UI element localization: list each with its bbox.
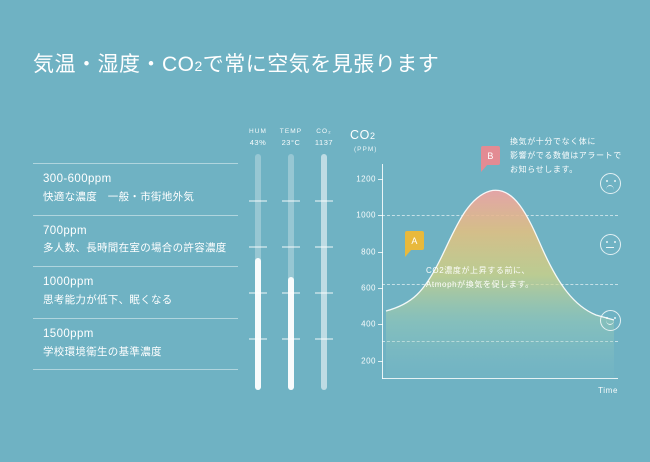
chart-axis-title-subscript: 2 <box>370 131 376 141</box>
gauge-name: CO₂ <box>309 128 339 135</box>
happy-face-icon <box>600 310 621 331</box>
sensor-gauges: HUM 43% TEMP 23°C CO₂ 1137 <box>243 128 338 393</box>
gauge-fill <box>288 277 294 390</box>
ppm-reference-list: 300-600ppm 快適な濃度 一般・市街地外気 700ppm 多人数、長時間… <box>33 163 238 370</box>
neutral-face-icon <box>600 234 621 255</box>
ppm-value: 700ppm <box>43 223 238 241</box>
ppm-description: 快適な濃度 一般・市街地外気 <box>43 189 238 206</box>
chart-axis-title-text: CO <box>350 128 370 142</box>
list-item: 700ppm 多人数、長時間在室の場合の許容濃度 <box>33 215 238 267</box>
gauge-name: TEMP <box>276 128 306 135</box>
sad-face-icon <box>600 173 621 194</box>
chart-axis-title: CO2 <box>350 128 376 142</box>
callout-a: CO2濃度が上昇する前に、 Atmophが換気を促します。 <box>426 264 534 292</box>
gauge-tube <box>321 154 327 390</box>
marker-b-tail <box>481 164 488 172</box>
marker-b[interactable]: B <box>481 146 500 168</box>
marker-a[interactable]: A <box>405 231 424 253</box>
gauge-fill <box>255 258 261 390</box>
y-tick-label: 800 <box>361 247 376 256</box>
ppm-value: 1500ppm <box>43 326 238 344</box>
page-title-tail: で常に空気を見張ります <box>203 53 440 76</box>
chart-axis-unit: (PPM) <box>354 146 377 153</box>
callout-b-line: 影響がでる数値はアラートで <box>510 149 622 163</box>
marker-b-label: B <box>481 146 500 165</box>
marker-a-label: A <box>405 231 424 250</box>
ppm-description: 多人数、長時間在室の場合の許容濃度 <box>43 240 238 257</box>
marker-a-tail <box>405 249 412 257</box>
callout-a-line: CO2濃度が上昇する前に、 <box>426 264 534 278</box>
page-title-subscript: 2 <box>195 58 203 74</box>
list-item: 300-600ppm 快適な濃度 一般・市街地外気 <box>33 163 238 215</box>
gauge-tube <box>288 154 294 390</box>
page-title-main: 気温・湿度・CO <box>33 53 195 76</box>
gauge-value: 1137 <box>309 138 339 147</box>
gauge-name: HUM <box>243 128 273 135</box>
y-tick-label: 1200 <box>356 174 376 183</box>
gauge-value: 43% <box>243 138 273 147</box>
ppm-value: 1000ppm <box>43 274 238 292</box>
callout-a-line: Atmophが換気を促します。 <box>426 278 534 292</box>
gauge-value: 23°C <box>276 138 306 147</box>
y-tick-label: 200 <box>361 356 376 365</box>
y-tick-label: 600 <box>361 283 376 292</box>
y-tick-label: 400 <box>361 320 376 329</box>
list-item: 1000ppm 思考能力が低下、眠くなる <box>33 266 238 318</box>
gauge-temp: TEMP 23°C <box>276 128 306 147</box>
y-tick-label: 1000 <box>356 210 376 219</box>
page-title: 気温・湿度・CO2で常に空気を見張ります <box>33 48 439 78</box>
gauge-co2: CO₂ 1137 <box>309 128 339 147</box>
ppm-description: 思考能力が低下、眠くなる <box>43 292 238 309</box>
x-axis-label: Time <box>598 386 618 395</box>
ppm-value: 300-600ppm <box>43 171 238 189</box>
gauge-hum: HUM 43% <box>243 128 273 147</box>
list-item: 1500ppm 学校環境衛生の基準濃度 <box>33 318 238 371</box>
ppm-description: 学校環境衛生の基準濃度 <box>43 344 238 361</box>
callout-b-line: 換気が十分でなく体に <box>510 135 622 149</box>
gauge-tube <box>255 154 261 390</box>
callout-b: 換気が十分でなく体に 影響がでる数値はアラートで お知らせします。 <box>510 135 622 177</box>
